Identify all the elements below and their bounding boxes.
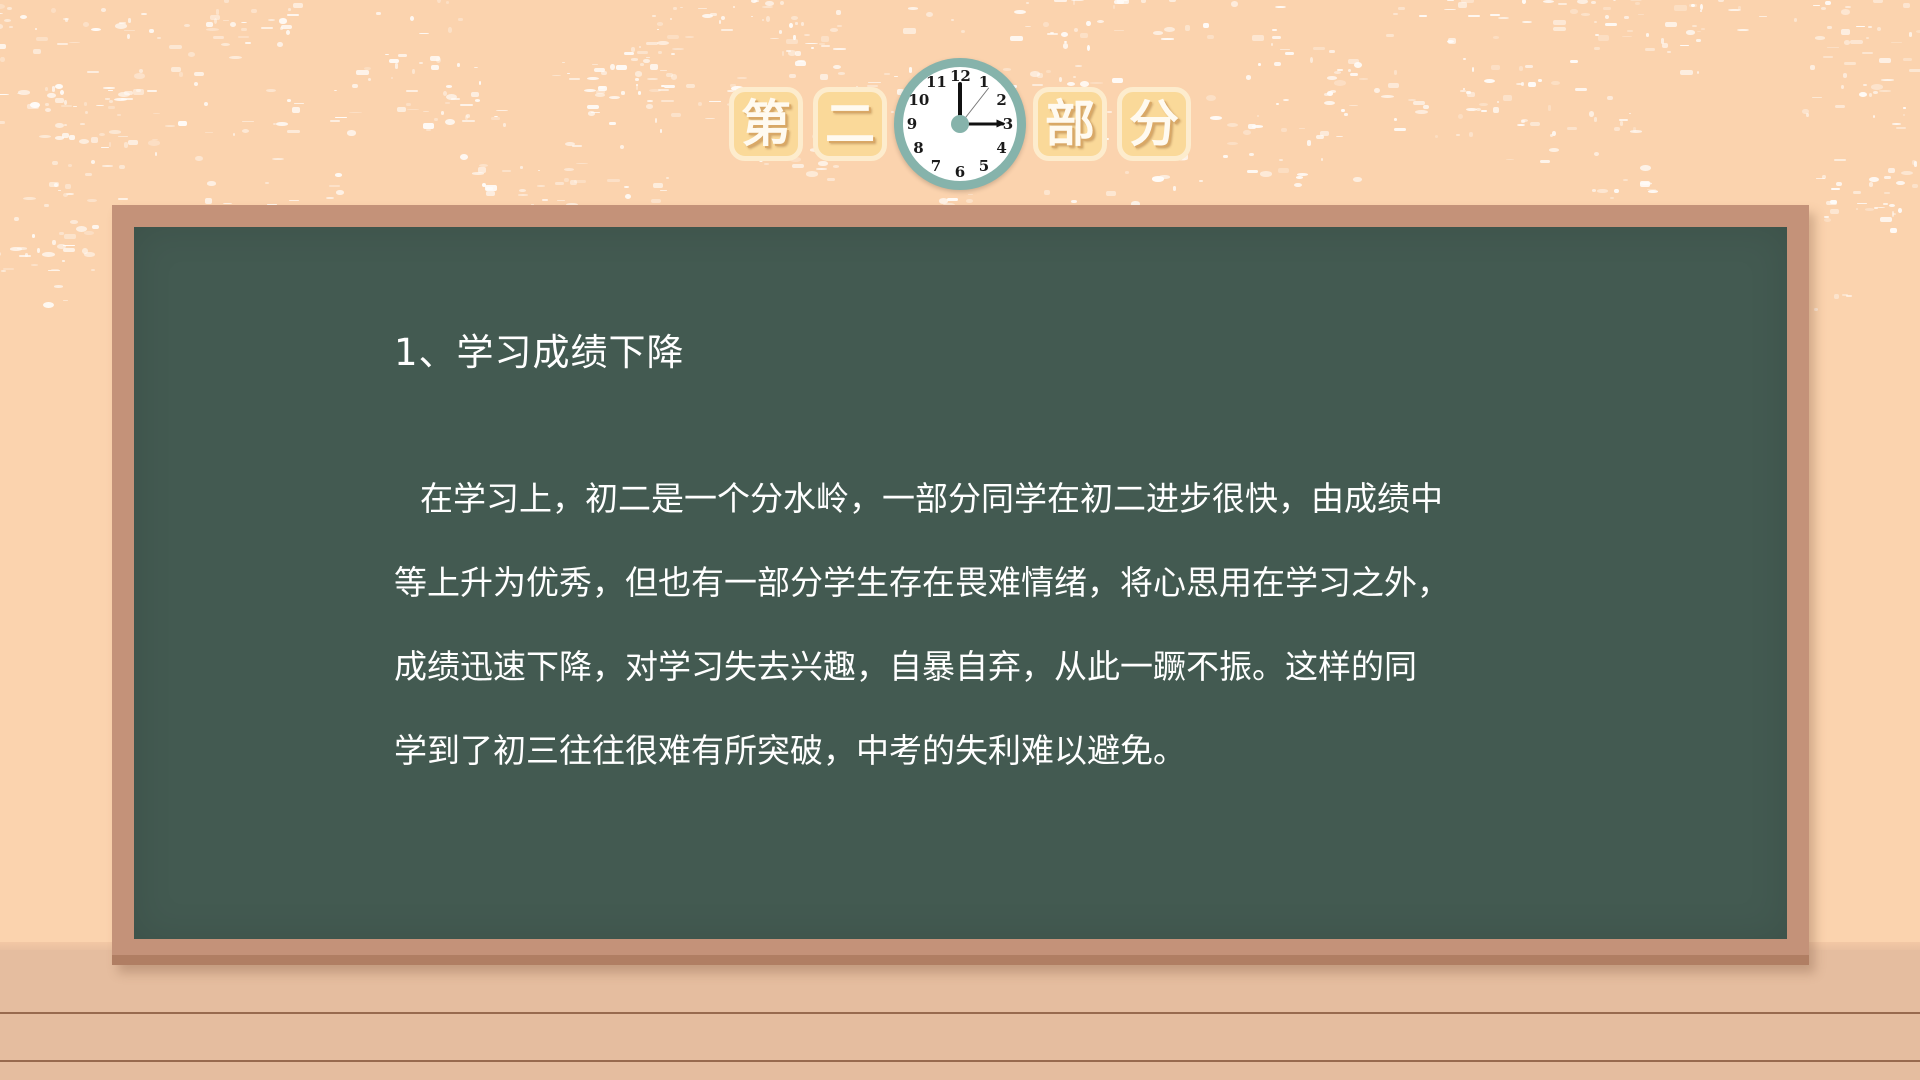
clock-slot: 121234567891011 [894, 58, 1026, 190]
board-paragraph-line: 学到了初三往往很难有所突破，中考的失利难以避免。 [394, 709, 1594, 793]
board-paragraph-line: 等上升为优秀，但也有一部分学生存在畏难情绪，将心思用在学习之外， [394, 541, 1594, 625]
title-tile-bu: 部 [1033, 87, 1107, 161]
board-paragraph-line: 在学习上，初二是一个分水岭，一部分同学在初二进步很快，由成绩中 [394, 457, 1594, 541]
blackboard-frame: 1、学习成绩下降 在学习上，初二是一个分水岭，一部分同学在初二进步很快，由成绩中… [112, 205, 1809, 965]
title-tile-di: 第 [729, 87, 803, 161]
clock-center-cap [951, 115, 969, 133]
clock-numeral-6: 6 [950, 164, 970, 180]
floor-area [0, 950, 1920, 1080]
clock-numeral-7: 7 [926, 158, 946, 174]
board-heading: 1、学习成绩下降 [394, 322, 685, 376]
clock-numeral-11: 11 [926, 74, 946, 90]
clock-numeral-10: 10 [908, 92, 928, 108]
title-tile-er: 二 [813, 87, 887, 161]
slide-canvas: 第 二 121234567891011 部 分 1、学习成绩下降 在学习上，初二… [0, 0, 1920, 1080]
floor-line-upper [0, 1012, 1920, 1014]
clock-numeral-4: 4 [992, 140, 1012, 156]
clock-icon: 121234567891011 [894, 58, 1026, 190]
clock-numeral-5: 5 [974, 158, 994, 174]
clock-minute-hand-arrow [996, 120, 1005, 128]
clock-numeral-1: 1 [974, 74, 994, 90]
floor-line-lower [0, 1060, 1920, 1062]
clock-numeral-9: 9 [902, 116, 922, 132]
blackboard: 1、学习成绩下降 在学习上，初二是一个分水岭，一部分同学在初二进步很快，由成绩中… [134, 227, 1787, 939]
board-paragraph: 在学习上，初二是一个分水岭，一部分同学在初二进步很快，由成绩中 等上升为优秀，但… [394, 457, 1594, 793]
clock-numeral-8: 8 [908, 140, 928, 156]
board-paragraph-line: 成绩迅速下降，对学习失去兴趣，自暴自弃，从此一蹶不振。这样的同 [394, 625, 1594, 709]
title-tile-fen: 分 [1117, 87, 1191, 161]
clock-numeral-2: 2 [992, 92, 1012, 108]
section-title-group: 第 二 121234567891011 部 分 [724, 58, 1196, 190]
